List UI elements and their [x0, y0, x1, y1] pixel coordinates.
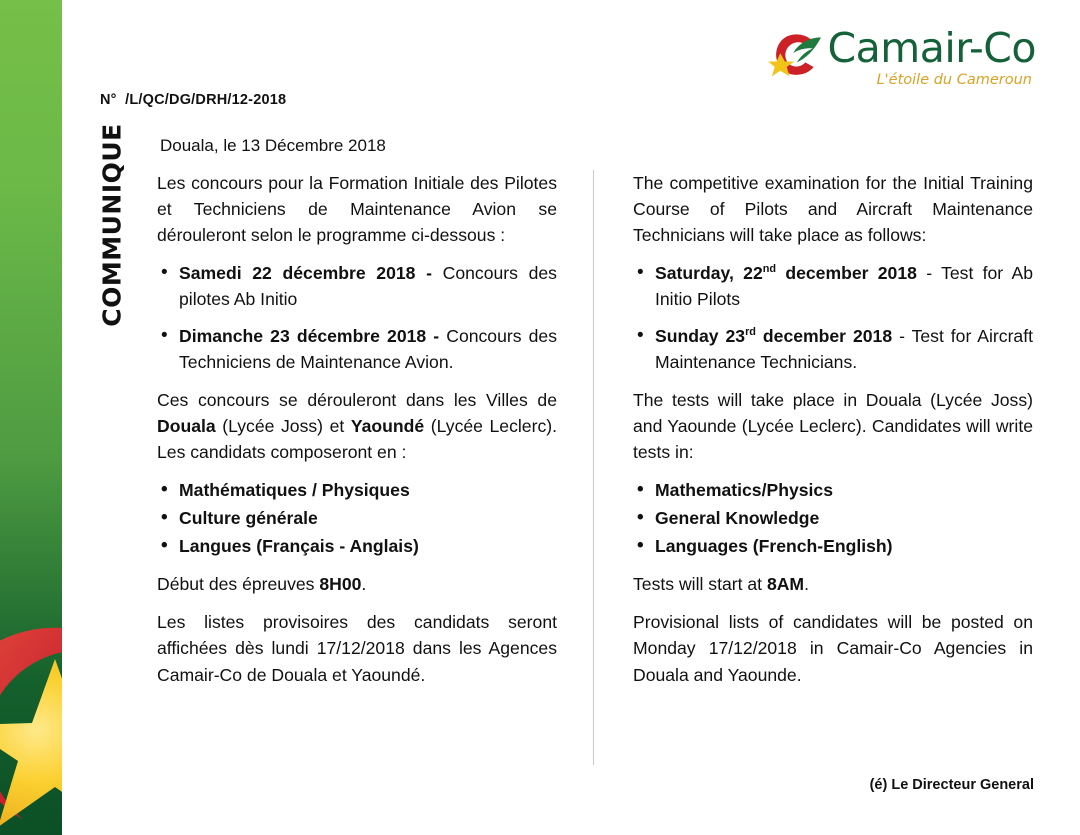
english-start-time: 8AM [767, 574, 804, 594]
list-item: Mathématiques / Physiques [157, 477, 557, 503]
english-schedule-1-sep: - [892, 326, 911, 346]
reference-number: N° /L/QC/DG/DRH/12-2018 [100, 92, 286, 108]
french-schedule-1-sep: - [426, 326, 446, 346]
english-intro-paragraph: The competitive examination for the Init… [633, 170, 1033, 248]
french-venues-pre: Ces concours se dérouleront dans les Vil… [157, 390, 557, 410]
star-and-swoosh-graphic [0, 575, 62, 835]
left-decorative-band [0, 0, 62, 835]
french-intro-paragraph: Les concours pour la Formation Initiale … [157, 170, 557, 248]
french-start-time-paragraph: Début des épreuves 8H00. [157, 571, 557, 597]
french-venue-city-1: Douala [157, 416, 216, 436]
french-lists-note: Les listes provisoires des candidats ser… [157, 609, 557, 687]
communique-vertical-label: COMMUNIQUE [92, 110, 132, 340]
english-lists-note: Provisional lists of candidates will be … [633, 609, 1033, 687]
brand-name: Camair-Co [828, 26, 1036, 70]
communique-vertical-label-text: COMMUNIQUE [98, 123, 127, 327]
list-item: General Knowledge [633, 505, 1033, 531]
english-schedule-1-month: december 2018 [756, 326, 892, 346]
french-schedule-1-date: Dimanche 23 décembre 2018 [179, 326, 426, 346]
list-item: Dimanche 23 décembre 2018 - Concours des… [157, 323, 557, 375]
english-schedule-0-sep: - [917, 263, 941, 283]
french-schedule-list: Samedi 22 décembre 2018 - Concours des p… [157, 260, 557, 375]
english-start-time-paragraph: Tests will start at 8AM. [633, 571, 1033, 597]
camair-co-logo-mark-icon [768, 30, 824, 80]
english-schedule-0-month: december 2018 [776, 263, 917, 283]
english-column: The competitive examination for the Init… [633, 170, 1033, 700]
list-item: Langues (Français - Anglais) [157, 533, 557, 559]
list-item: Languages (French-English) [633, 533, 1033, 559]
date-line: Douala, le 13 Décembre 2018 [160, 136, 386, 156]
english-start-post: . [804, 574, 809, 594]
french-start-post: . [361, 574, 366, 594]
french-schedule-0-sep: - [415, 263, 442, 283]
french-venue-city-2: Yaoundé [351, 416, 424, 436]
english-schedule-list: Saturday, 22nd december 2018 - Test for … [633, 260, 1033, 375]
french-venues-mid: (Lycée Joss) et [216, 416, 351, 436]
english-schedule-0-day: Saturday, 22 [655, 263, 763, 283]
list-item: Samedi 22 décembre 2018 - Concours des p… [157, 260, 557, 312]
english-schedule-1-ordinal: rd [745, 326, 756, 338]
brand-tagline: L'étoile du Cameroun [877, 72, 1032, 88]
french-venues-paragraph: Ces concours se dérouleront dans les Vil… [157, 387, 557, 465]
french-start-pre: Début des épreuves [157, 574, 319, 594]
french-start-time: 8H00 [319, 574, 361, 594]
french-schedule-0-date: Samedi 22 décembre 2018 [179, 263, 415, 283]
english-subjects-list: Mathematics/Physics General Knowledge La… [633, 477, 1033, 559]
column-divider [593, 170, 594, 765]
signature-line: (é) Le Directeur General [870, 777, 1034, 793]
english-venues-paragraph: The tests will take place in Douala (Lyc… [633, 387, 1033, 465]
english-schedule-1-day: Sunday 23 [655, 326, 745, 346]
list-item: Mathematics/Physics [633, 477, 1033, 503]
list-item: Culture générale [157, 505, 557, 531]
list-item: Sunday 23rd december 2018 - Test for Air… [633, 323, 1033, 375]
camair-co-logo: Camair-Co L'étoile du Cameroun [768, 26, 1036, 88]
list-item: Saturday, 22nd december 2018 - Test for … [633, 260, 1033, 312]
french-subjects-list: Mathématiques / Physiques Culture généra… [157, 477, 557, 559]
english-schedule-0-ordinal: nd [763, 263, 776, 275]
french-column: Les concours pour la Formation Initiale … [157, 170, 557, 700]
english-start-pre: Tests will start at [633, 574, 767, 594]
